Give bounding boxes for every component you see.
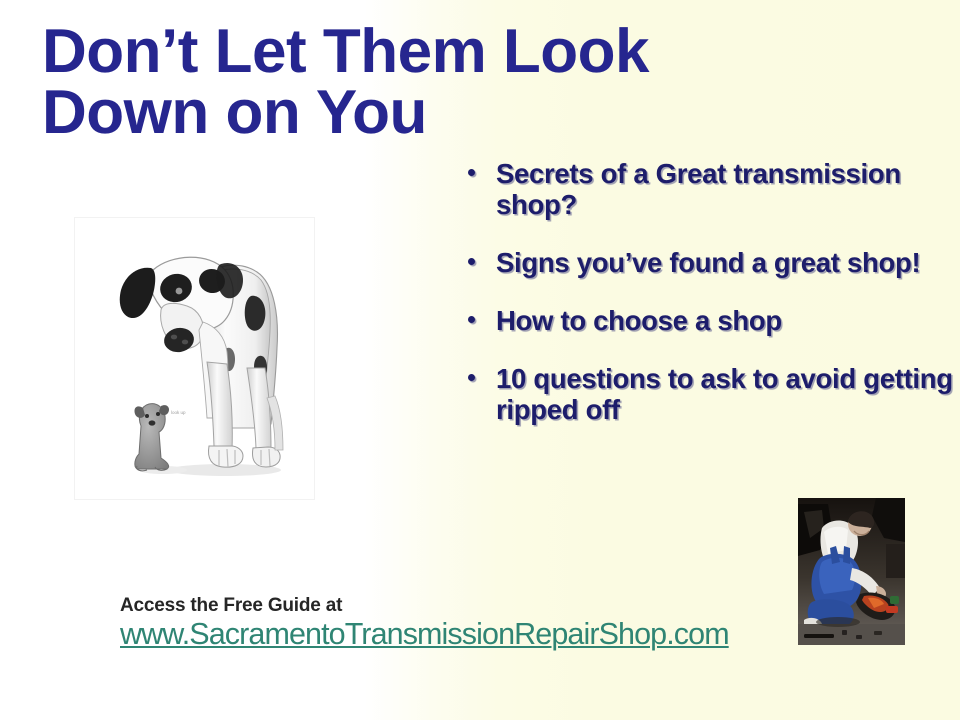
list-item: Secrets of a Great transmission shop? <box>462 158 954 220</box>
photo-watermark: look up <box>171 410 186 415</box>
bullet-dot-icon <box>468 169 475 176</box>
list-item-label: Signs you’ve found a great shop! <box>496 247 920 278</box>
page-title: Don’t Let Them Look Down on You <box>42 22 762 144</box>
presentation-slide: Don’t Let Them Look Down on You <box>0 0 960 720</box>
list-item-label: How to choose a shop <box>496 305 782 336</box>
list-item-label: 10 questions to ask to avoid getting rip… <box>496 363 953 425</box>
mechanic-illustration <box>798 498 905 645</box>
bullet-list: Secrets of a Great transmission shop? Si… <box>462 158 954 425</box>
bullet-dot-icon <box>468 316 475 323</box>
dog-illustration: look up <box>75 218 314 499</box>
list-item: How to choose a shop <box>462 305 954 336</box>
mechanic-repairing-transmission-photo <box>798 498 905 645</box>
bullet-dot-icon <box>468 374 475 381</box>
great-dane-looking-down-at-puppy-photo: look up <box>75 218 314 499</box>
footer-lead-text: Access the Free Guide at <box>120 596 344 617</box>
list-item: 10 questions to ask to avoid getting rip… <box>462 363 954 425</box>
bullet-dot-icon <box>468 258 475 265</box>
footer: Access the Free Guide at www.SacramentoT… <box>120 596 729 651</box>
website-url-link[interactable]: www.SacramentoTransmissionRepairShop.com <box>120 618 729 651</box>
list-item-label: Secrets of a Great transmission shop? <box>496 158 901 220</box>
list-item: Signs you’ve found a great shop! <box>462 247 954 278</box>
